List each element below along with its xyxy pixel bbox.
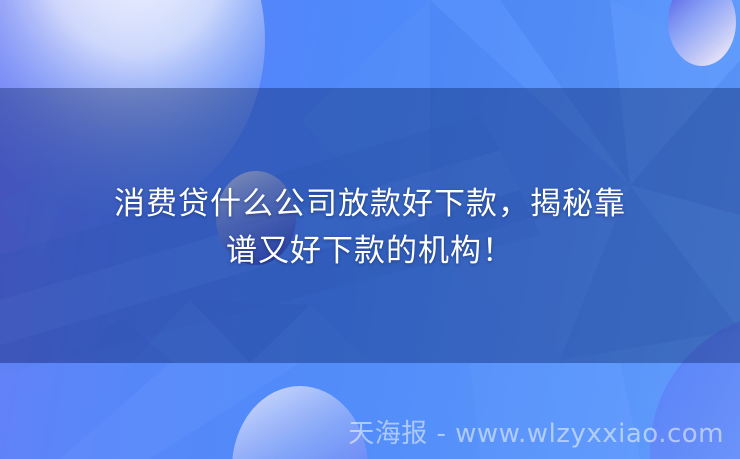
title-line-1: 消费贷什么公司放款好下款，揭秘靠 (28, 181, 712, 228)
poster-title: 消费贷什么公司放款好下款，揭秘靠 谱又好下款的机构！ (0, 181, 740, 275)
site-watermark: 天海报 - www.wlzyxxiao.com (348, 421, 724, 447)
poster-canvas: 消费贷什么公司放款好下款，揭秘靠 谱又好下款的机构！ 天海报 - www.wlz… (0, 0, 740, 459)
title-line-2: 谱又好下款的机构！ (28, 228, 712, 275)
